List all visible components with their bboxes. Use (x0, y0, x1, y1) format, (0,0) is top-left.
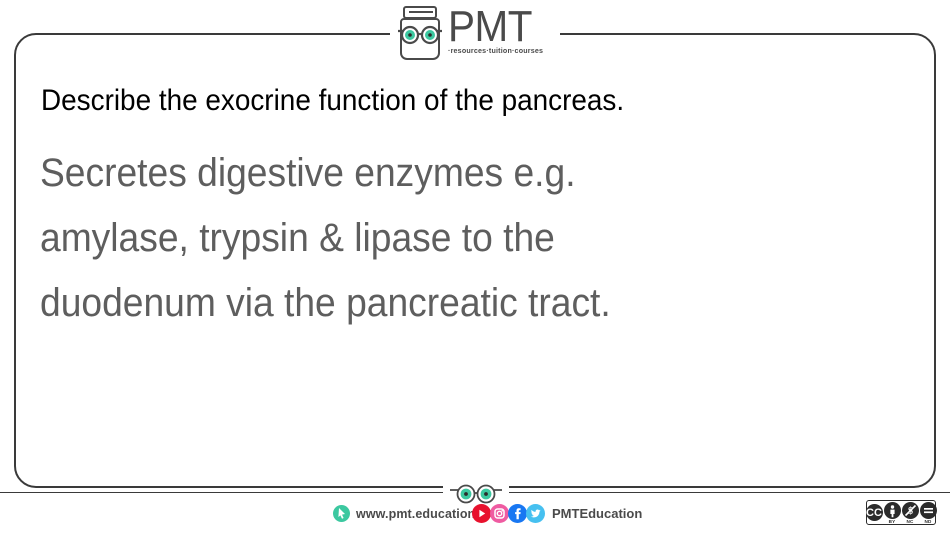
cc-nd-mark: ND (920, 500, 937, 525)
logo-wordmark: PMT (448, 6, 540, 48)
glasses-icon (447, 483, 505, 505)
answer-block: Secretes digestive enzymes e.g. amylase,… (40, 141, 890, 336)
cc-by-nc-nd-badge[interactable]: CC BY $ NC ND (866, 500, 936, 525)
brand-handle: PMTEducation (552, 506, 642, 521)
footer-social: PMTEducation (472, 504, 642, 523)
cc-nc-mark: $ NC (902, 500, 919, 525)
jar-with-glasses-icon (395, 4, 447, 62)
website-url: www.pmt.education (356, 507, 475, 521)
nc-mark-icon: $ (902, 502, 919, 519)
cursor-badge-icon (333, 505, 350, 522)
instagram-icon[interactable] (490, 504, 509, 523)
logo-tagline: ·resources·tuition·courses (448, 46, 543, 55)
nd-mark-icon (920, 502, 937, 519)
nd-label: ND (920, 519, 937, 524)
glasses-icon (396, 25, 444, 45)
by-label: BY (884, 519, 901, 524)
answer-line: duodenum via the pancreatic tract. (40, 271, 831, 336)
question-text: Describe the exocrine function of the pa… (41, 83, 624, 119)
pmt-logo: PMT ·resources·tuition·courses (395, 4, 555, 66)
by-mark-icon (884, 502, 901, 519)
footer-website[interactable]: www.pmt.education (333, 505, 475, 522)
twitter-icon[interactable] (526, 504, 545, 523)
cc-by-mark: BY (884, 500, 901, 525)
facebook-icon[interactable] (508, 504, 527, 523)
answer-line: amylase, trypsin & lipase to the (40, 206, 831, 271)
nc-label: NC (902, 519, 919, 524)
youtube-icon[interactable] (472, 504, 491, 523)
cc-mark-icon: CC (866, 504, 883, 521)
answer-line: Secretes digestive enzymes e.g. (40, 141, 831, 206)
